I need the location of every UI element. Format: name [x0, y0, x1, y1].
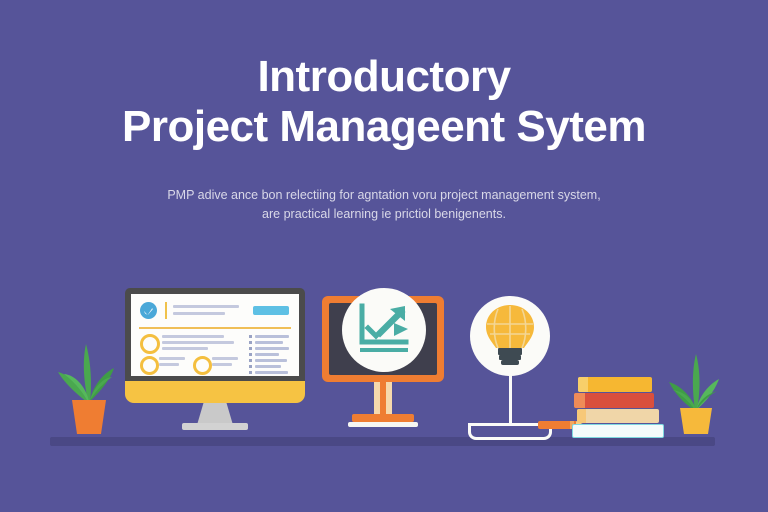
- potted-plant-left-graphic: [48, 330, 128, 440]
- monitor-chin: [125, 381, 305, 403]
- desktop-monitor-dashboard[interactable]: [125, 288, 305, 440]
- lightbulb-icon-badge: [470, 296, 550, 376]
- book-stack[interactable]: [572, 377, 664, 439]
- title-line-1: Introductory: [0, 52, 768, 102]
- title-line-2: Project Manageent Sytem: [0, 102, 768, 152]
- screen-text-line: [173, 312, 225, 315]
- monitor-growth-chart[interactable]: [322, 296, 444, 440]
- book-top: [578, 377, 652, 392]
- book-second-pages: [574, 393, 585, 408]
- screen-text-line: [162, 347, 208, 350]
- lightbulb-icon: [470, 296, 550, 376]
- page-subtitle: PMP adive ance bon relectiing for agntat…: [118, 186, 650, 224]
- screen-divider-vertical: [165, 302, 167, 319]
- monitor-stand: [197, 403, 233, 425]
- metric-ring-icon: [140, 356, 159, 375]
- screen-text-line: [162, 335, 224, 338]
- screen-text-line: [159, 363, 179, 366]
- book-third-pages: [577, 409, 586, 423]
- book-third: [577, 409, 659, 423]
- screen-divider-horizontal: [139, 327, 291, 329]
- book-top-pages: [578, 377, 588, 392]
- monitor2-stand-stripe: [380, 382, 386, 416]
- poster-canvas: Introductory Project Manageent Sytem PMP…: [0, 0, 768, 512]
- potted-plant-right-graphic: [660, 348, 730, 440]
- monitor2-base-plate: [348, 422, 418, 427]
- metric-ring-icon: [140, 334, 160, 354]
- screen-text-line: [212, 363, 232, 366]
- verified-badge-icon: [140, 302, 157, 319]
- screen-text-line: [162, 341, 234, 344]
- growth-chart-icon-badge: [342, 288, 426, 372]
- screen-text-line: [173, 305, 239, 308]
- book-bottom: [572, 424, 664, 438]
- subtitle-line-2: are practical learning ie prictiol benig…: [118, 205, 650, 224]
- lamp-pole: [509, 370, 512, 426]
- monitor-base: [182, 423, 248, 430]
- monitor-screen: [131, 294, 299, 376]
- potted-plant-right: [660, 348, 730, 440]
- screen-text-line: [212, 357, 238, 360]
- metric-ring-icon: [193, 356, 212, 375]
- page-title: Introductory Project Manageent Sytem: [0, 52, 768, 152]
- growth-chart-icon: [342, 288, 426, 372]
- subtitle-line-1: PMP adive ance bon relectiing for agntat…: [118, 186, 650, 205]
- screen-text-line: [159, 357, 185, 360]
- monitor2-base: [352, 414, 414, 422]
- book-second: [574, 393, 654, 408]
- potted-plant-left: [48, 330, 128, 440]
- screen-primary-button[interactable]: [253, 306, 289, 315]
